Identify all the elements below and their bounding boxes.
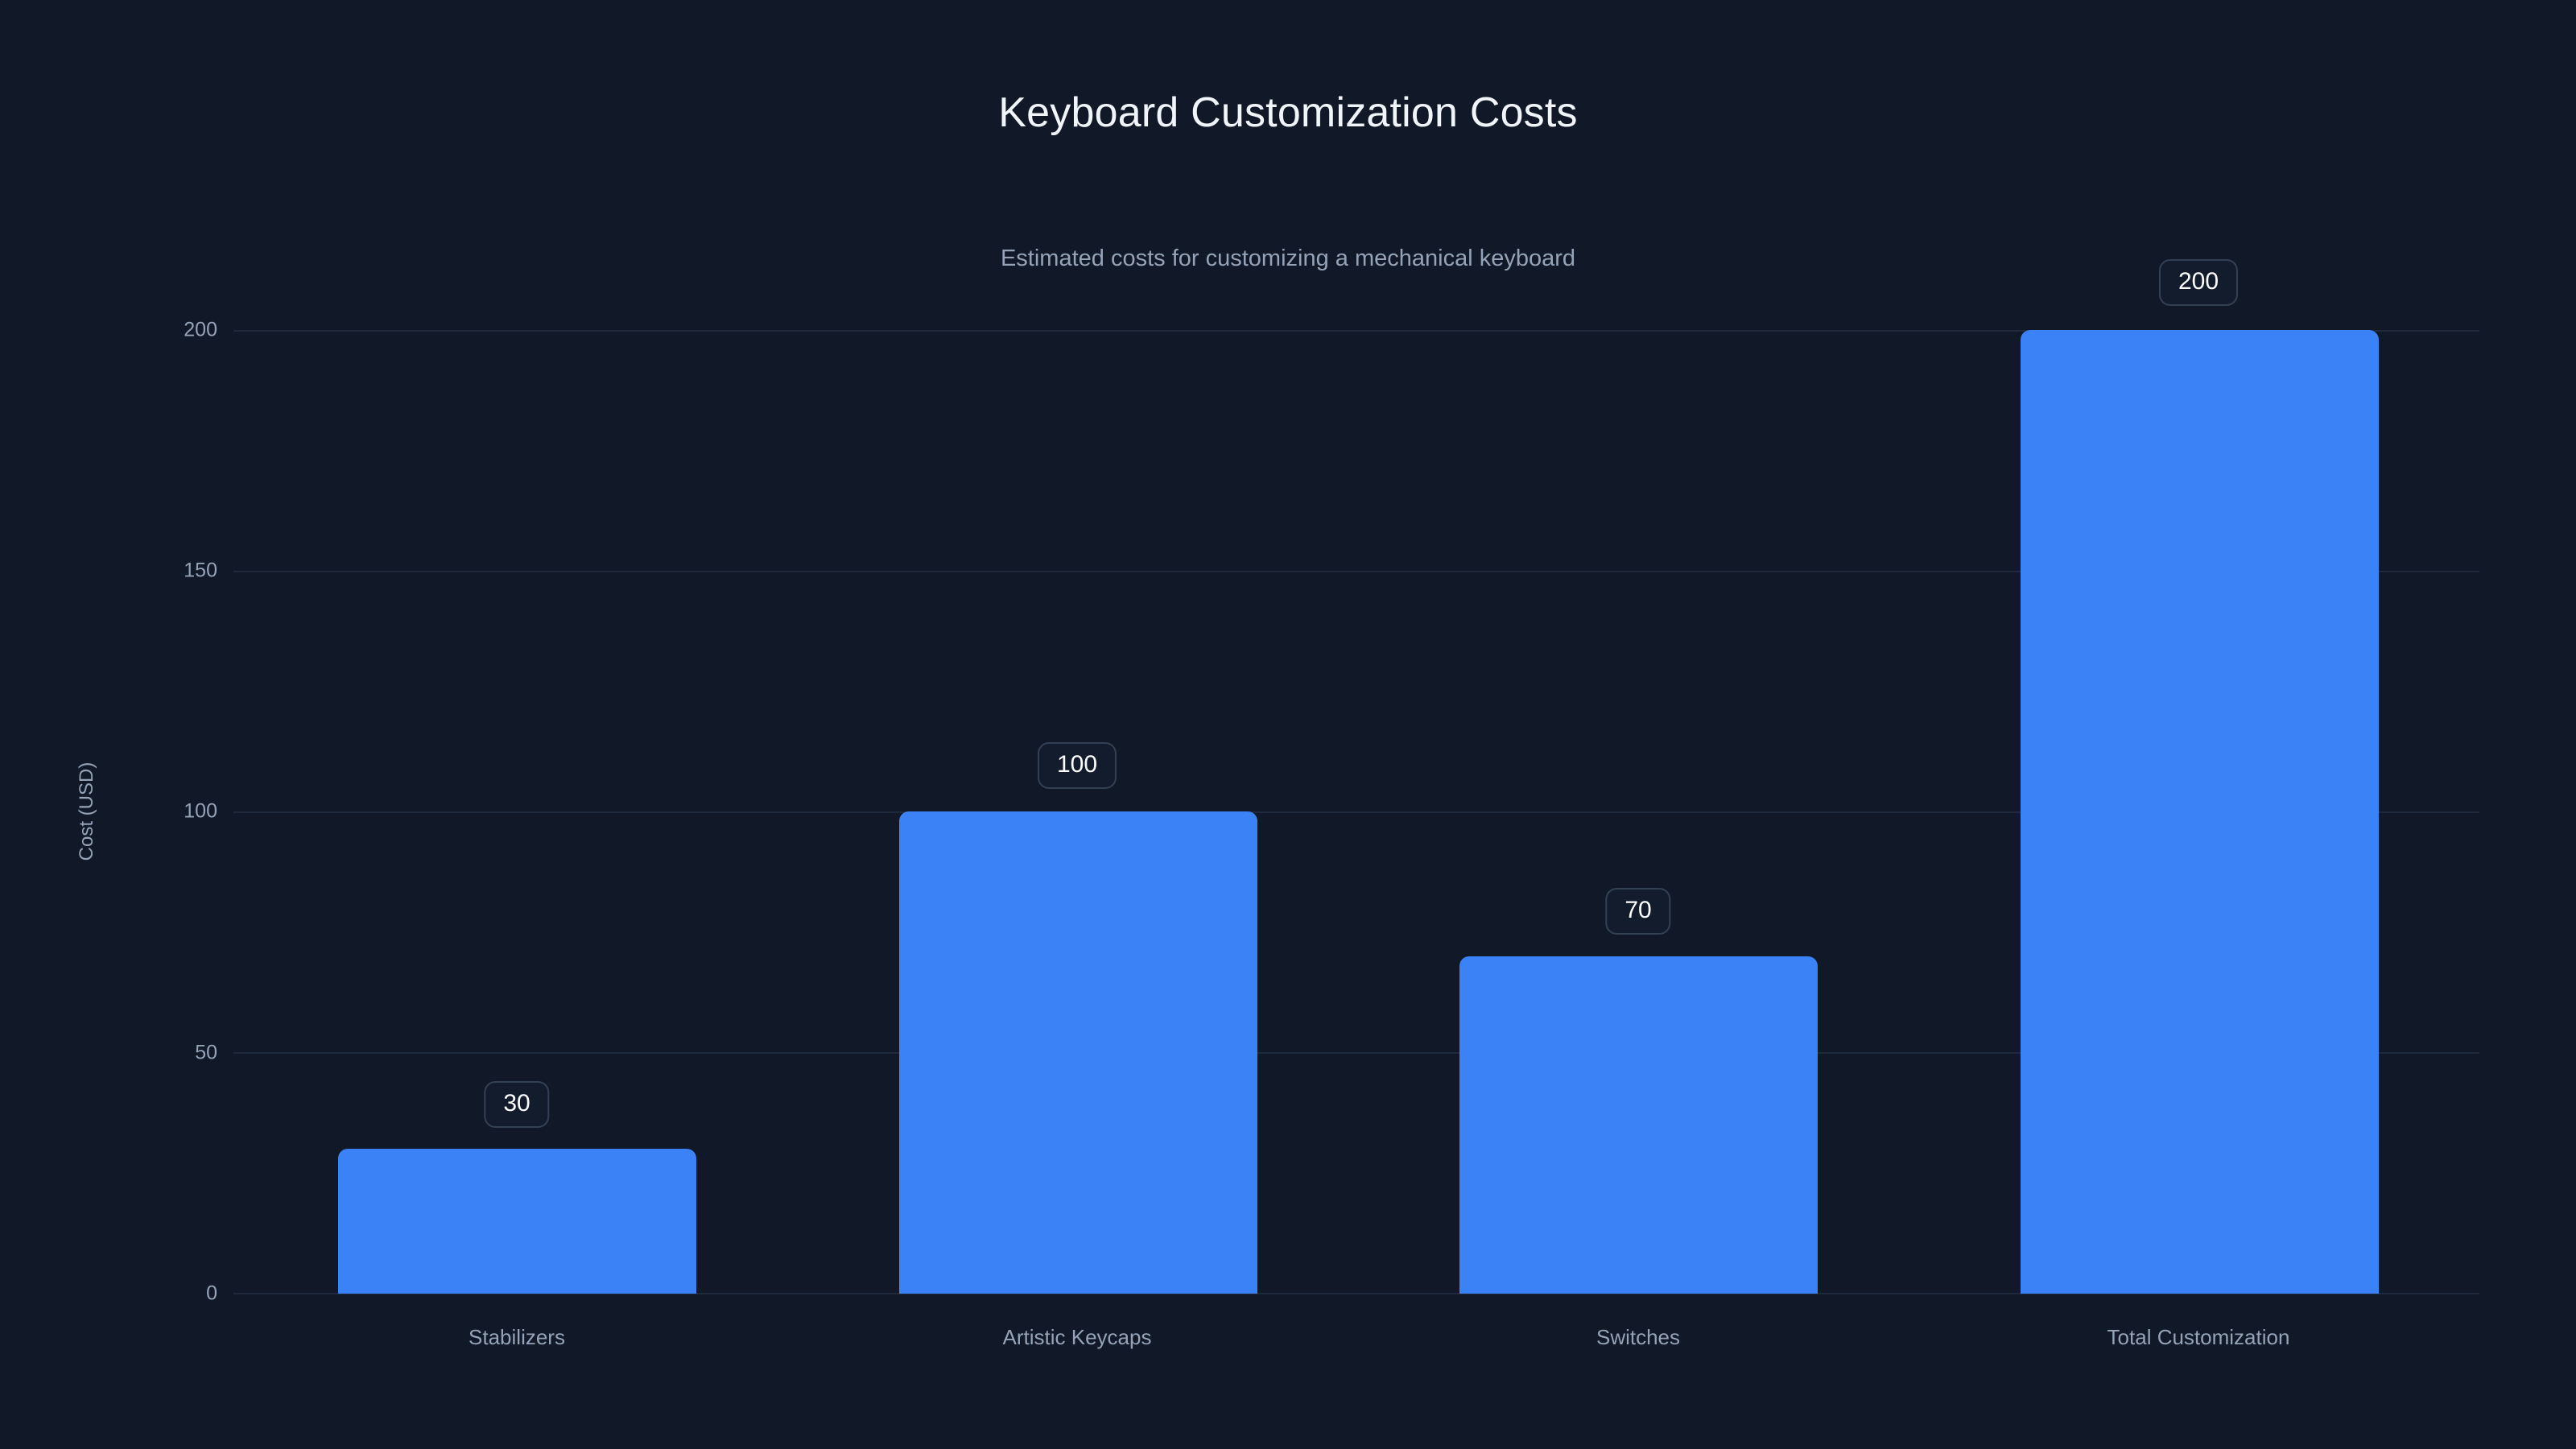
y-tick-label-200: 200: [97, 319, 217, 342]
plot-area: [233, 330, 2479, 1294]
y-axis-title: Cost (USD): [76, 762, 98, 861]
x-tick-label-total-customization: Total Customization: [2107, 1325, 2290, 1350]
bar-switches[interactable]: [1459, 956, 1818, 1294]
y-tick-label-100: 100: [97, 800, 217, 824]
x-tick-label-stabilizers: Stabilizers: [469, 1325, 565, 1350]
bar-stabilizers[interactable]: [338, 1149, 696, 1294]
value-badge-stabilizers: 30: [484, 1081, 549, 1128]
y-tick-label-150: 150: [97, 559, 217, 583]
y-tick-label-0: 0: [97, 1282, 217, 1306]
y-tick-label-50: 50: [97, 1042, 217, 1065]
bar-chart-figure: Keyboard Customization Costs Estimated c…: [0, 0, 2576, 1449]
chart-title: Keyboard Customization Costs: [0, 89, 2576, 137]
bar-artistic-keycaps[interactable]: [899, 811, 1257, 1294]
bar-total-customization[interactable]: [2021, 330, 2379, 1294]
x-tick-label-switches: Switches: [1596, 1325, 1680, 1350]
value-badge-total-customization: 200: [2159, 259, 2238, 306]
x-tick-label-artistic-keycaps: Artistic Keycaps: [1003, 1325, 1152, 1350]
value-badge-artistic-keycaps: 100: [1038, 742, 1117, 789]
value-badge-switches: 70: [1605, 888, 1670, 935]
